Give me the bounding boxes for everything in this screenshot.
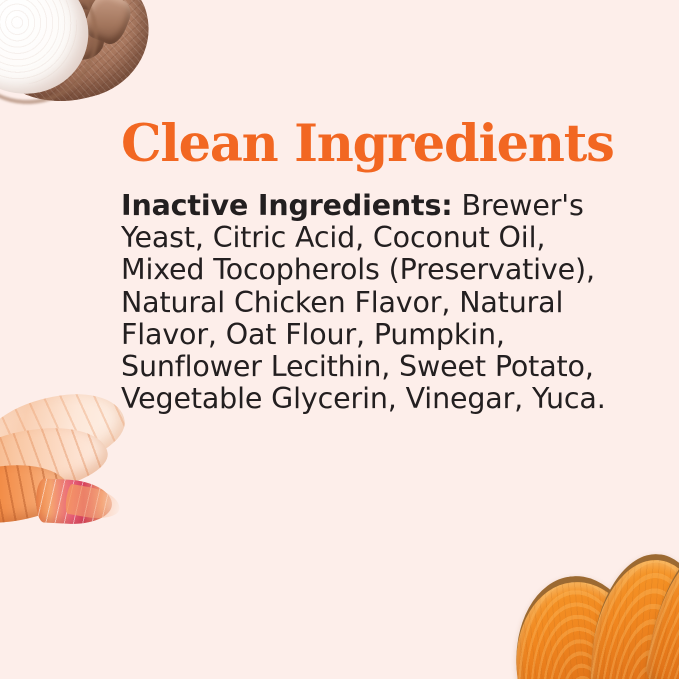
coconut-husk-segment [29, 0, 102, 36]
turmeric-slice [641, 530, 679, 679]
turmeric-slice [507, 570, 648, 679]
content-block: Clean Ingredients Inactive Ingredients: … [121, 118, 621, 415]
shrimp-image [0, 396, 149, 541]
turmeric-slice [589, 550, 679, 679]
coconut-flesh [0, 0, 96, 102]
shrimp-body-lower [0, 460, 72, 527]
coconut-shell-rim [0, 0, 107, 113]
coconut-husk [0, 0, 163, 117]
shrimp-body-upper [0, 382, 128, 485]
coconut-husk-segment [65, 0, 116, 13]
turmeric-slices-image [498, 524, 679, 679]
coconut-image [0, 0, 167, 116]
shrimp-body-middle [0, 420, 112, 502]
inactive-ingredients-list: Brewer's Yeast, Citric Acid, Coconut Oil… [121, 189, 606, 415]
inactive-ingredients-paragraph: Inactive Ingredients: Brewer's Yeast, Ci… [121, 190, 617, 415]
clean-ingredients-poster: Clean Ingredients Inactive Ingredients: … [0, 0, 679, 679]
coconut-husk-segment [81, 0, 135, 48]
coconut-husk-segment [27, 14, 107, 67]
inactive-ingredients-label: Inactive Ingredients: [121, 189, 453, 222]
shrimp-tail [35, 478, 113, 526]
page-title: Clean Ingredients [121, 118, 621, 170]
shrimp-tail-fin [64, 484, 122, 523]
